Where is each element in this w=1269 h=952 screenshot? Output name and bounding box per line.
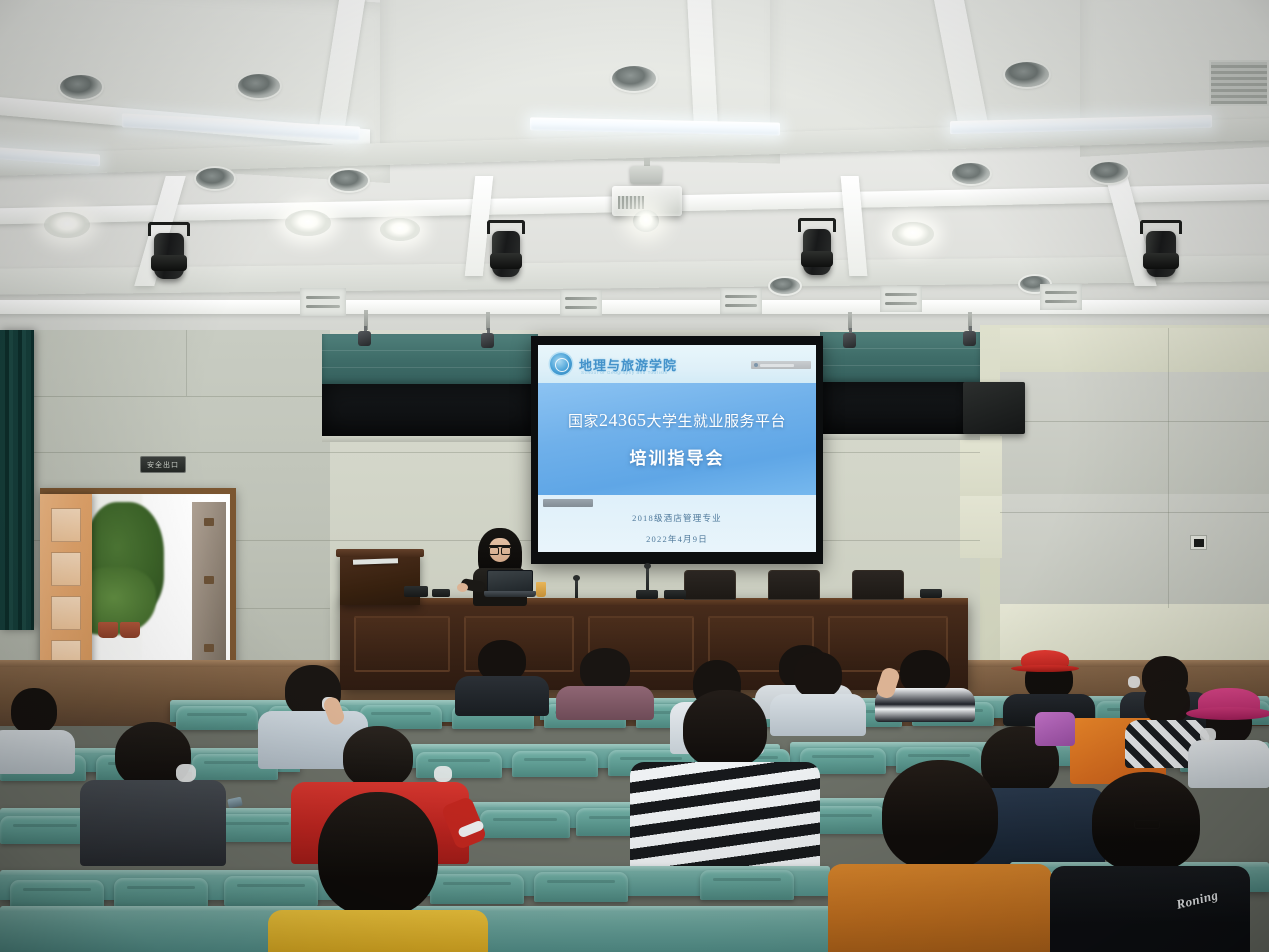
downlight-icon — [1090, 162, 1128, 183]
stage-spotlight — [148, 222, 190, 280]
wall-spotlight — [843, 328, 856, 348]
stage-spotlight — [798, 218, 836, 274]
downlight-icon — [1005, 62, 1049, 87]
university-logo-icon — [550, 353, 572, 375]
projection-screen: 地理与旅游学院 School of Geography and Tourism … — [531, 336, 823, 564]
slide-subtitle-date: 2022年4月9日 — [646, 533, 708, 545]
blackboard — [322, 384, 534, 436]
downlight-icon — [770, 278, 800, 294]
audience-member — [268, 792, 488, 952]
head-table — [340, 598, 968, 690]
stage-curtain — [0, 330, 34, 630]
downlight-lit-icon — [44, 212, 90, 238]
ceiling-vent — [880, 286, 922, 312]
downlight-lit-icon — [892, 222, 934, 246]
red-cap — [1021, 650, 1069, 670]
wall-panel — [960, 496, 1002, 558]
slide-tag-overlay — [543, 499, 593, 507]
wall-panel — [960, 436, 1002, 496]
audience-member — [875, 648, 975, 720]
smartphone[interactable] — [227, 797, 243, 809]
audience-member: Roning — [1070, 772, 1269, 952]
audience-member — [0, 688, 86, 778]
seat[interactable] — [480, 810, 570, 838]
ceiling — [0, 0, 1269, 345]
downlight-icon — [196, 168, 234, 189]
title-number: 24365 — [599, 410, 647, 430]
audience-member — [828, 760, 1052, 952]
lectern — [340, 553, 420, 605]
person-body — [0, 730, 75, 774]
ceiling-vent — [300, 288, 346, 316]
stage-spotlight — [487, 220, 525, 276]
blackboard — [822, 382, 980, 434]
stage-chair[interactable] — [684, 570, 736, 600]
mustard-top — [828, 864, 1052, 952]
toolbar-dot-icon — [754, 363, 758, 367]
lecture-hall-photo: 安全出口 地理与旅游学院 School o — [0, 0, 1269, 952]
person-head — [882, 760, 998, 870]
title-prefix: 国家 — [568, 414, 599, 430]
seat[interactable] — [534, 872, 628, 902]
downlight-icon — [238, 74, 280, 98]
wall-panel — [1000, 372, 1269, 494]
striped-shirt — [630, 762, 820, 878]
seat[interactable] — [0, 816, 90, 844]
wall-spotlight — [358, 326, 371, 346]
glasses-icon — [1134, 820, 1160, 829]
av-equipment — [404, 586, 428, 597]
av-equipment — [664, 590, 686, 599]
wall-spotlight — [963, 326, 976, 346]
pink-bucket-hat — [1198, 688, 1260, 718]
purple-backpack — [1035, 712, 1075, 746]
slide-title-band: 国家24365大学生就业服务平台 培训指导会 — [538, 383, 816, 495]
ceiling-vent — [560, 290, 602, 316]
slide-subtitle-class: 2018级酒店管理专业 — [632, 512, 722, 524]
wall-panel — [1000, 328, 1269, 372]
seat[interactable] — [512, 751, 598, 777]
person-head — [1144, 680, 1190, 724]
audience-member — [455, 640, 549, 712]
lectern-paper — [353, 558, 398, 565]
seat[interactable] — [114, 878, 208, 908]
downlight-lit-icon — [285, 210, 331, 236]
wall-panel — [1000, 494, 1269, 604]
title-suffix: 大学生就业服务平台 — [647, 414, 787, 430]
slide-title-line2: 培训指导会 — [630, 444, 725, 469]
person-body — [268, 910, 488, 952]
person-head — [11, 688, 57, 734]
ceiling-vent — [1040, 284, 1082, 310]
wall-teal-band — [322, 334, 538, 384]
downlight-icon — [330, 170, 368, 191]
person-body — [455, 676, 549, 716]
downlight-icon — [612, 66, 656, 91]
microphone — [575, 578, 578, 598]
wall-spotlight — [481, 328, 494, 348]
stage-spotlight — [1140, 220, 1182, 278]
audience-member — [80, 722, 226, 862]
logo-text-en: School of Geography and Tourism — [581, 370, 668, 375]
downlight-icon — [952, 163, 990, 184]
drink-cup — [536, 582, 546, 597]
presenter-laptop[interactable] — [484, 570, 536, 598]
ac-grille — [1209, 60, 1269, 106]
stage-chair[interactable] — [852, 570, 904, 600]
person-head — [318, 792, 438, 916]
ceiling-projector — [612, 182, 682, 228]
glasses-icon — [489, 545, 511, 551]
slide-header: 地理与旅游学院 School of Geography and Tourism — [538, 345, 816, 383]
chalk-tray — [822, 434, 980, 440]
chalk-tray — [322, 436, 534, 442]
wall-outlet — [1190, 535, 1207, 550]
flower-pot — [120, 622, 140, 638]
face-mask — [176, 764, 196, 782]
av-equipment — [920, 589, 942, 598]
av-equipment — [432, 589, 450, 597]
presenter-hand — [457, 583, 468, 592]
slide-footer: 2018级酒店管理专业 2022年4月9日 — [538, 495, 816, 552]
person-head — [683, 690, 767, 768]
black-script-tee — [1050, 866, 1250, 952]
person-head — [343, 726, 413, 788]
face-mask — [1200, 728, 1216, 742]
slide-toolbar-overlay[interactable] — [751, 361, 811, 369]
av-equipment — [636, 590, 658, 599]
face-mask — [434, 766, 452, 782]
slide-title-line1: 国家24365大学生就业服务平台 — [568, 410, 786, 431]
toolbar-bar — [760, 364, 794, 367]
presentation-slide: 地理与旅游学院 School of Geography and Tourism … — [538, 345, 816, 552]
seat[interactable] — [700, 870, 794, 900]
wall-speaker — [963, 382, 1025, 434]
exit-sign: 安全出口 — [140, 456, 186, 473]
audience-member — [630, 690, 820, 876]
person-body — [80, 780, 226, 866]
flower-pot — [98, 622, 118, 638]
stage-chair[interactable] — [768, 570, 820, 600]
downlight-icon — [60, 75, 102, 99]
downlight-lit-icon — [380, 218, 420, 241]
ceiling-vent — [720, 288, 762, 314]
